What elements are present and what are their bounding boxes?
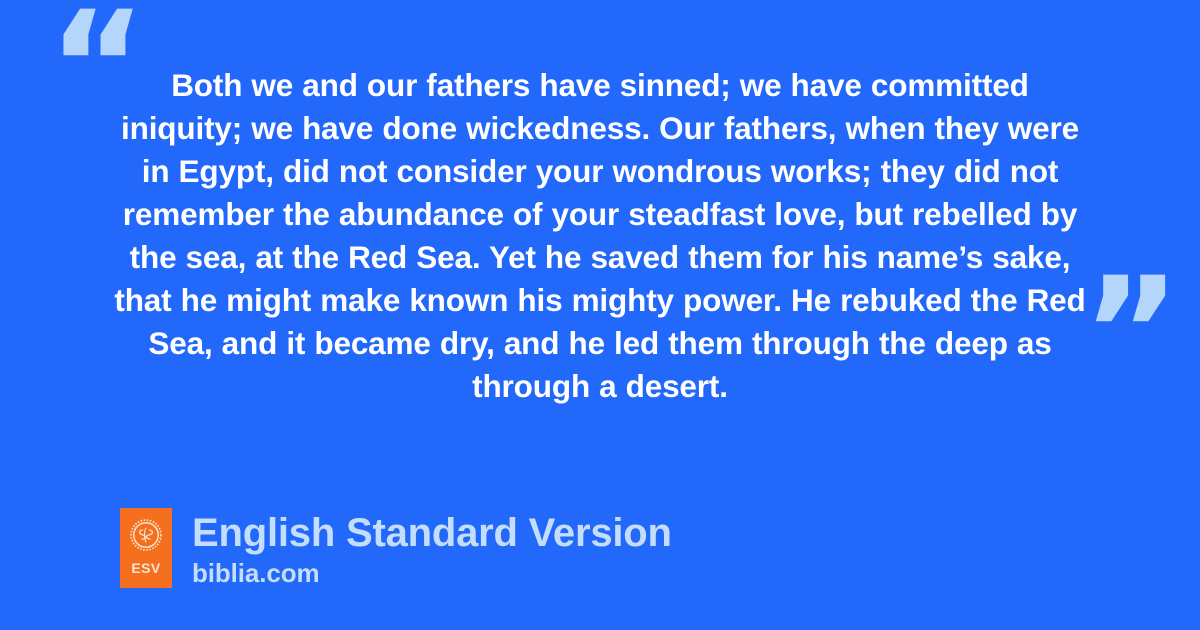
verse-text: Both we and our fathers have sinned; we … [110, 64, 1090, 408]
closing-quote-icon: ” [1082, 258, 1179, 408]
verse-image-card: “ ” Both we and our fathers have sinned;… [0, 0, 1200, 630]
esv-logo-label: ESV [131, 561, 160, 575]
translation-name: English Standard Version [192, 510, 672, 556]
esv-logo: ESV [120, 508, 172, 588]
quote-block: Both we and our fathers have sinned; we … [110, 64, 1090, 408]
site-name: biblia.com [192, 558, 672, 588]
attribution-text: English Standard Version biblia.com [192, 508, 672, 588]
attribution: ESV English Standard Version biblia.com [120, 508, 672, 588]
esv-seal-icon [130, 519, 162, 551]
